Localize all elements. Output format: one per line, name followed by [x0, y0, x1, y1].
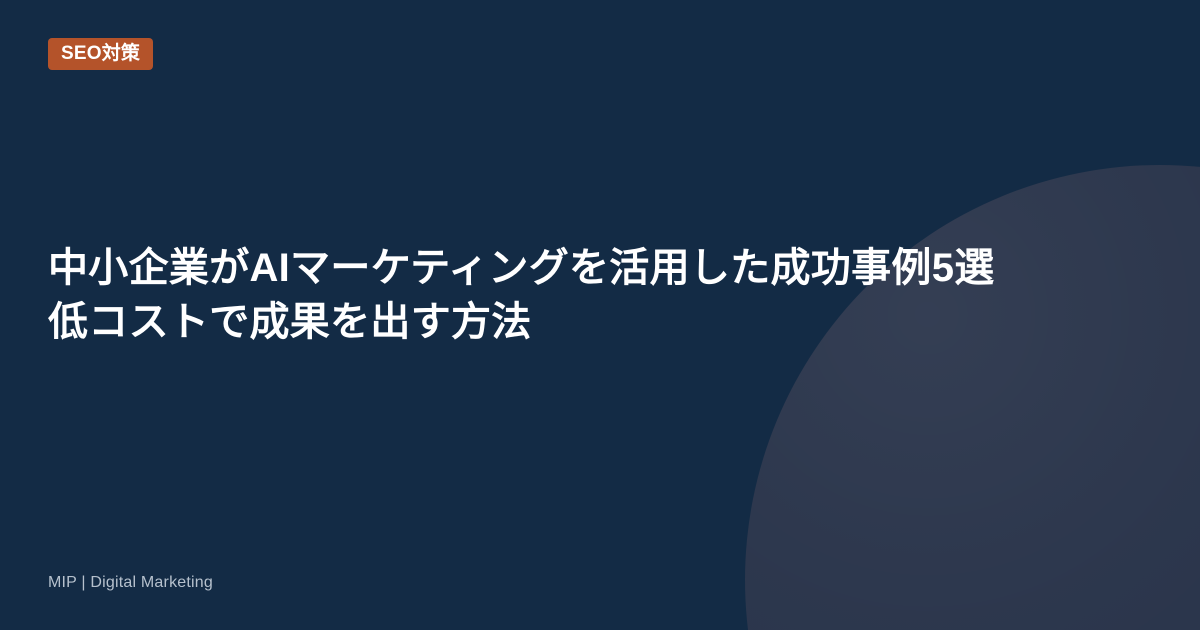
brand-label: MIP | Digital Marketing [48, 574, 213, 591]
title-line-1: 中小企業がAIマーケティングを活用した成功事例5選 [48, 241, 1048, 295]
footer: MIP | Digital Marketing [48, 572, 213, 594]
og-image-card: SEO対策 中小企業がAIマーケティングを活用した成功事例5選 低コストで成果を… [0, 0, 1200, 630]
title-line-2: 低コストで成果を出す方法 [48, 295, 1048, 349]
decorative-circle [745, 165, 1200, 630]
category-badge: SEO対策 [48, 38, 153, 70]
badge-row: SEO対策 [48, 38, 153, 70]
page-title: 中小企業がAIマーケティングを活用した成功事例5選 低コストで成果を出す方法 [48, 241, 1048, 349]
